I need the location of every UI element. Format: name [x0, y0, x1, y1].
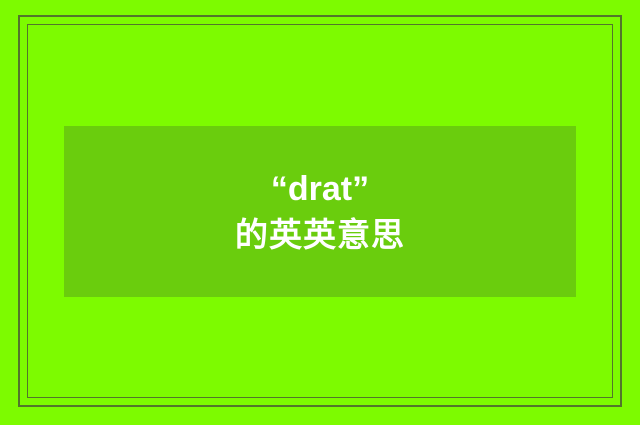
headline-primary-text: “drat” [271, 172, 369, 206]
headline-panel: “drat” 的英英意思 [64, 126, 576, 297]
headline-secondary-text: 的英英意思 [235, 218, 405, 251]
image-canvas: “drat” 的英英意思 [0, 0, 640, 425]
